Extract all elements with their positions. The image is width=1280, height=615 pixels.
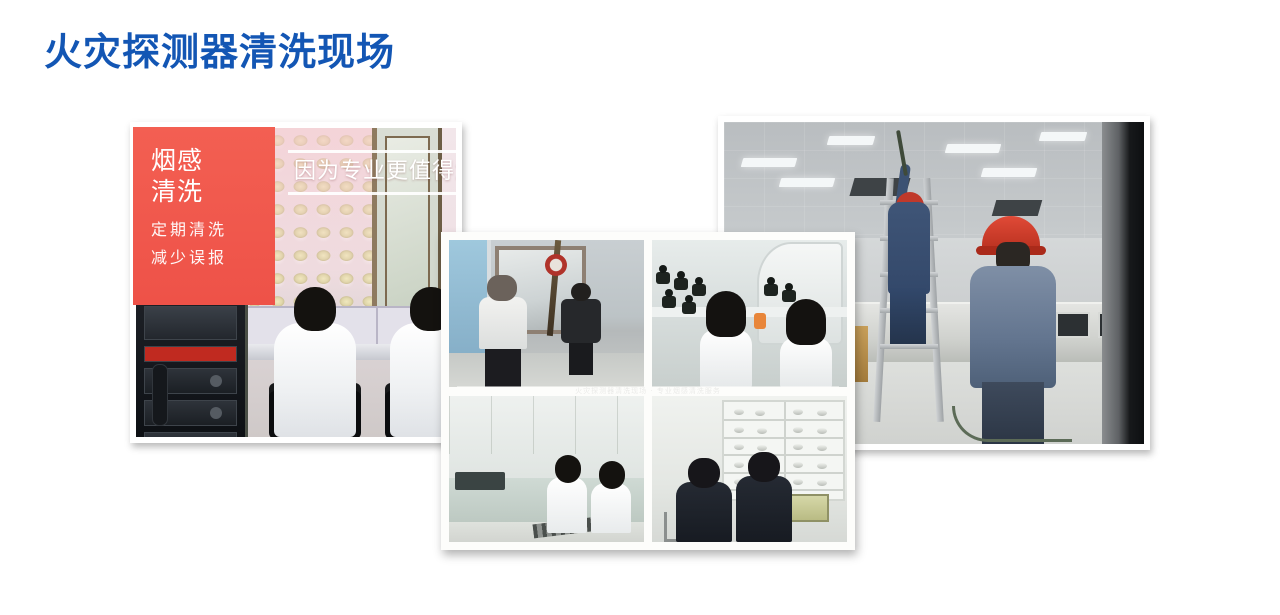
- collage-grid: 火灾探测器清洗现场 · 专业烟感清洗服务: [449, 240, 847, 542]
- microscope-icon: [662, 296, 676, 308]
- worker-legs: [890, 288, 926, 344]
- ceiling-light-icon: [741, 158, 798, 167]
- detector-unit: [817, 445, 827, 451]
- person-legs: [569, 341, 593, 375]
- ladder-rung: [880, 344, 938, 349]
- sink: [455, 472, 505, 490]
- door-jamb: [1102, 122, 1144, 444]
- ceiling-light-icon: [1039, 132, 1088, 141]
- console-monitor: [1056, 312, 1090, 338]
- inspector-head: [748, 452, 780, 482]
- wash-bench-scene: [449, 396, 644, 543]
- standing-technician: [591, 461, 631, 533]
- person-shirt: [479, 297, 527, 349]
- banner-subline-1: 定期清洗: [151, 217, 275, 243]
- page-title: 火灾探测器清洗现场: [44, 32, 395, 74]
- ceiling-light-icon: [779, 178, 836, 187]
- collage-panel-shelving: [652, 396, 847, 543]
- uniform-jacket: [736, 476, 792, 542]
- technician-head: [294, 287, 336, 331]
- ceiling-vent: [992, 200, 1043, 216]
- standing-person: [477, 275, 529, 387]
- white-lab-coat: [547, 477, 587, 533]
- ceiling-light-icon: [981, 168, 1038, 177]
- technician-head: [786, 299, 826, 345]
- white-lab-coat: [274, 323, 356, 437]
- detector-unit: [793, 462, 803, 468]
- seated-inspector: [676, 458, 732, 542]
- rack-unit: [144, 306, 237, 340]
- detector-unit: [817, 480, 827, 486]
- detector-unit: [734, 444, 744, 450]
- rack-knob: [210, 407, 222, 419]
- detector-unit: [817, 463, 827, 469]
- vacuum-hose: [952, 406, 1072, 442]
- shelf-row: [724, 419, 843, 421]
- wall-cabinets: [449, 396, 644, 455]
- standing-technician: [547, 455, 587, 533]
- microscope-lab-scene: [652, 240, 847, 387]
- shelf-row: [724, 437, 843, 439]
- shelving-inspection-scene: [652, 396, 847, 543]
- technician-head: [555, 455, 581, 483]
- corridor-scene: [449, 240, 644, 387]
- detector-unit: [793, 444, 803, 450]
- seated-technician: [780, 299, 832, 387]
- detector-unit: [793, 479, 803, 485]
- supervisor-jacket: [970, 266, 1056, 388]
- rack-unit: [144, 432, 237, 437]
- detector-unit: [734, 409, 744, 415]
- promo-banner: 烟感 清洗 定期清洗 减少误报: [133, 127, 275, 305]
- banner-headline-line1: 烟感: [151, 145, 275, 176]
- seated-technician: [272, 287, 358, 437]
- microscope-icon: [764, 284, 778, 296]
- detector-unit: [817, 410, 827, 416]
- fire-control-rack: [136, 298, 248, 437]
- ceiling-light-icon: [827, 136, 876, 145]
- collage-card: 火灾探测器清洗现场 · 专业烟感清洗服务: [441, 232, 855, 550]
- detector-unit: [757, 445, 767, 451]
- ceiling-light-icon: [945, 144, 1002, 153]
- rack-alarm-strip: [144, 346, 237, 362]
- uniform-jacket: [676, 482, 732, 542]
- worker-on-ladder: [880, 158, 938, 340]
- white-lab-coat: [700, 329, 752, 387]
- collage-separator: [457, 387, 839, 396]
- person-shirt: [561, 299, 601, 343]
- seated-inspector: [736, 452, 792, 542]
- detector-unit: [755, 410, 765, 416]
- detector-unit: [817, 428, 827, 434]
- poster-root: 火灾探测器清洗现场: [0, 0, 1280, 615]
- collage-panel-microscope: [652, 240, 847, 387]
- technician-head: [599, 461, 625, 489]
- detector-unit: [793, 427, 803, 433]
- banner-subline-2: 减少误报: [151, 245, 275, 271]
- detector-unit: [793, 409, 803, 415]
- detector-unit: [757, 428, 767, 434]
- person-head: [487, 275, 517, 301]
- banner-headline-line2: 清洗: [151, 176, 275, 207]
- orange-tool: [754, 313, 766, 329]
- inspector-head: [688, 458, 720, 488]
- detector-unit: [734, 427, 744, 433]
- technician-head: [706, 291, 746, 337]
- collage-panel-washbench: [449, 396, 644, 543]
- rack-knob: [210, 375, 222, 387]
- collage-panel-corridor: [449, 240, 644, 387]
- standing-person: [561, 283, 601, 375]
- microscope-icon: [656, 272, 670, 284]
- telephone-handset: [152, 364, 168, 426]
- person-legs: [485, 345, 521, 387]
- worker-torso: [888, 202, 930, 294]
- microscope-icon: [682, 302, 696, 314]
- person-head: [571, 283, 591, 301]
- microscope-icon: [674, 278, 688, 290]
- seated-technician: [700, 291, 752, 387]
- white-lab-coat: [591, 483, 631, 533]
- round-sign-icon: [545, 254, 567, 276]
